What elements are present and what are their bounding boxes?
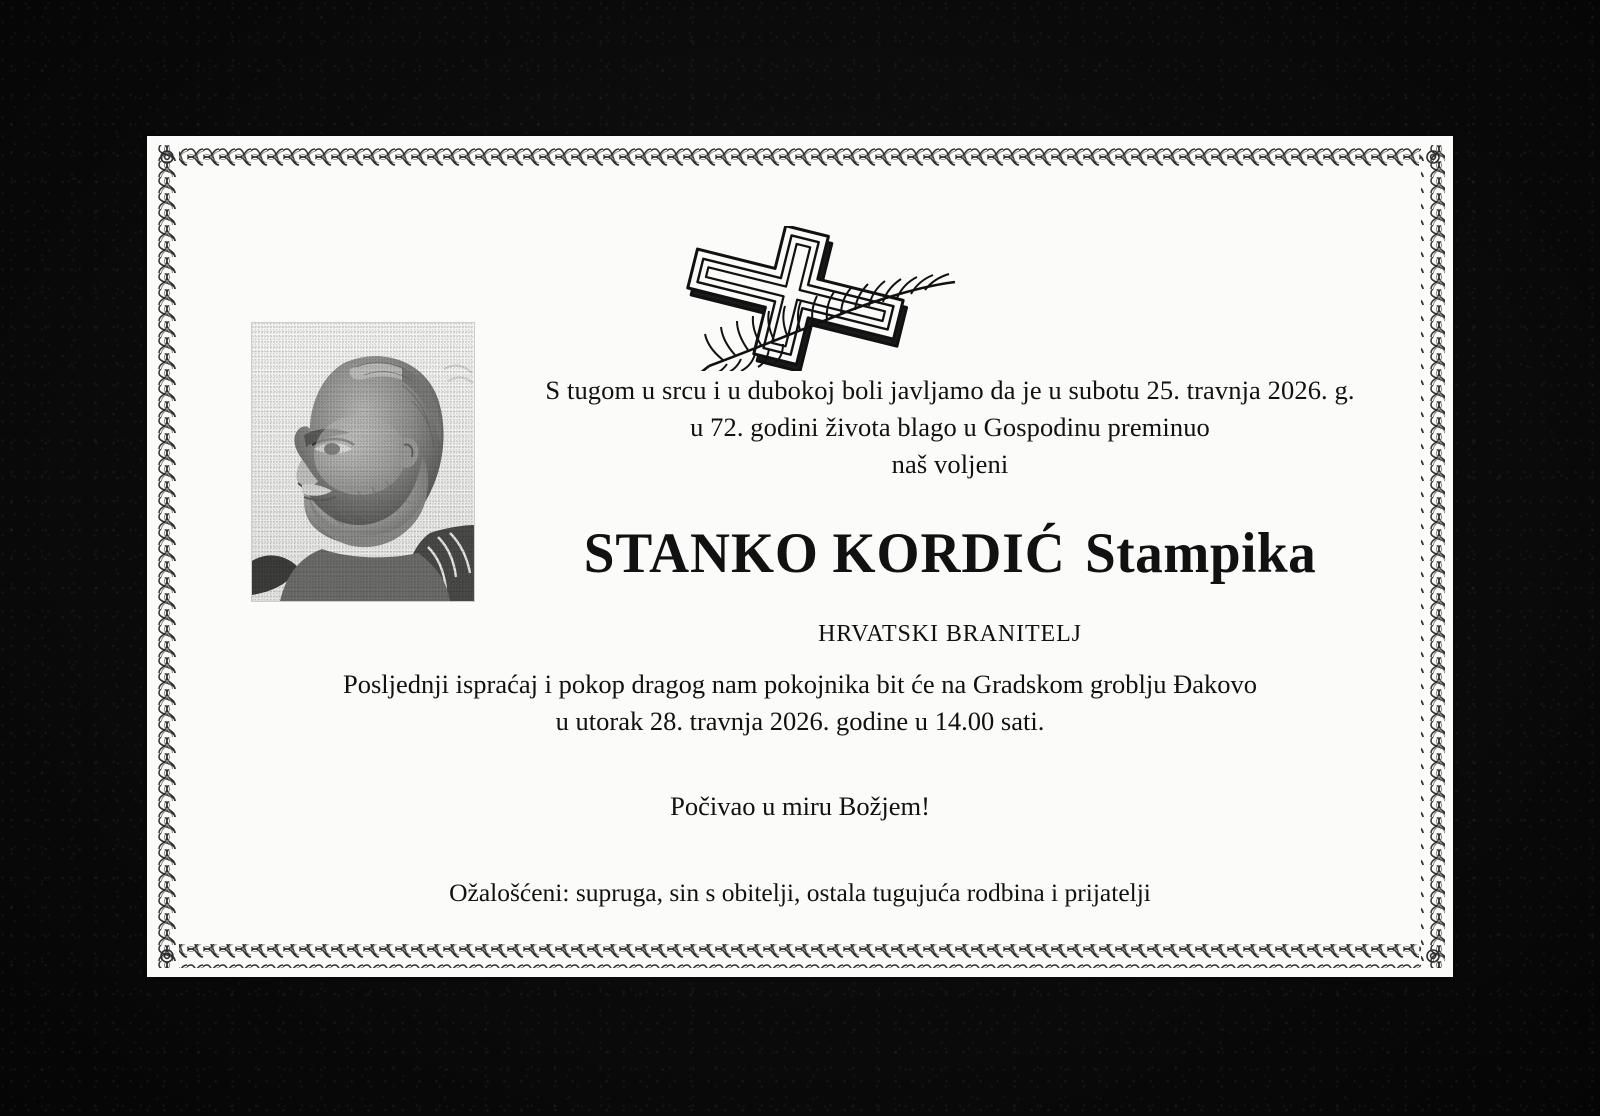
mourners-line: Ožalošćeni: supruga, sin s obitelji, ost… <box>183 875 1417 911</box>
announcement-line-1: S tugom u srcu i u dubokoj boli javljamo… <box>483 372 1417 409</box>
deceased-first-name: STANKO <box>584 522 819 585</box>
announcement-line-2: u 72. godini života blago u Gospodinu pr… <box>483 409 1417 446</box>
deceased-name: STANKOKORDIĆStampika <box>497 521 1403 587</box>
announcement-line-3: naš voljeni <box>483 446 1417 483</box>
obituary-card: S tugom u srcu i u dubokoj boli javljamo… <box>147 136 1453 977</box>
portrait-photo <box>251 322 475 602</box>
blessing-line: Počivao u miru Božjem! <box>183 788 1417 825</box>
funeral-details-block: Posljednji ispraćaj i pokop dragog nam p… <box>183 666 1417 911</box>
announcement-block: S tugom u srcu i u dubokoj boli javljamo… <box>483 372 1417 649</box>
funeral-line-1: Posljednji ispraćaj i pokop dragog nam p… <box>183 666 1417 703</box>
deceased-nickname: Stampika <box>1085 522 1316 585</box>
deceased-last-name: KORDIĆ <box>832 522 1065 585</box>
cross-with-palm-branch-icon <box>651 226 971 371</box>
funeral-line-2: u utorak 28. travnja 2026. godine u 14.0… <box>183 703 1417 740</box>
photo-grain-overlay <box>252 323 474 601</box>
deceased-honorific: HRVATSKI BRANITELJ <box>483 619 1417 649</box>
